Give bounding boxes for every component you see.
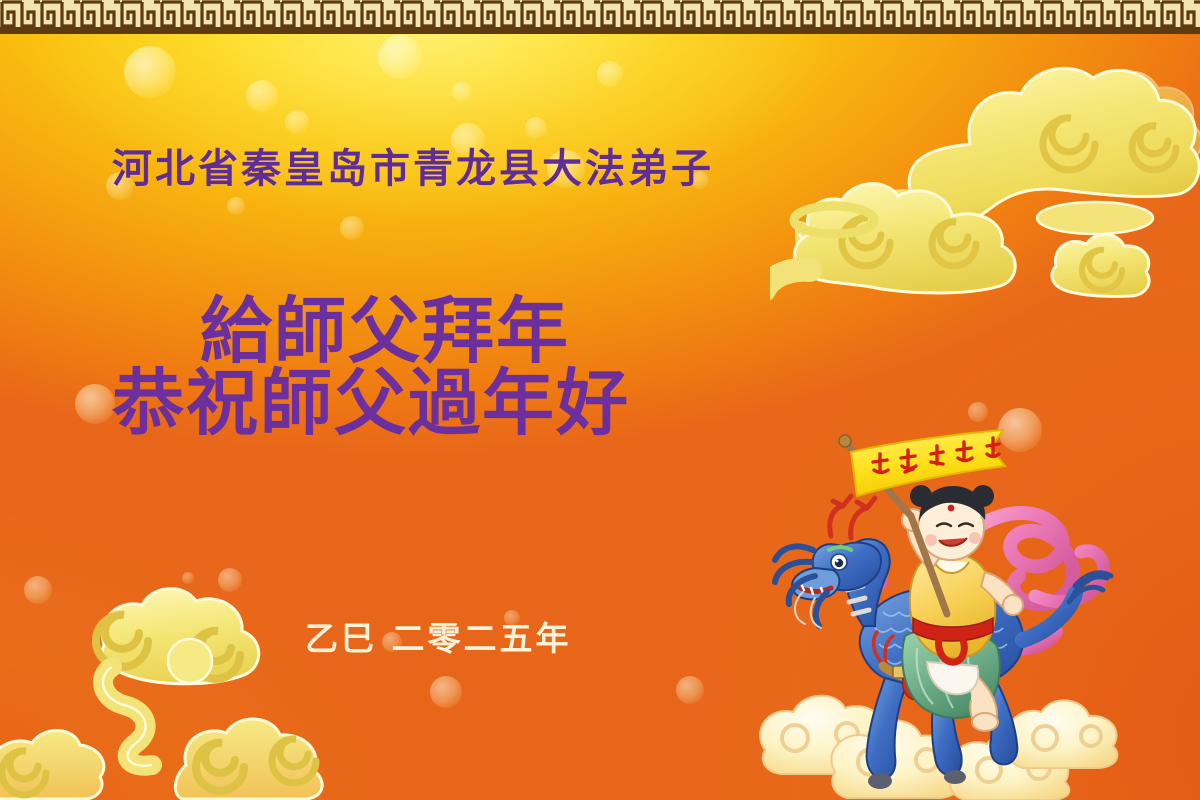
bokeh-circle bbox=[227, 197, 245, 215]
bokeh-circle bbox=[452, 82, 472, 102]
child-riding-dragon-illustration bbox=[735, 400, 1135, 800]
bokeh-circle bbox=[182, 572, 194, 584]
bokeh-circle bbox=[285, 110, 309, 134]
bokeh-circle bbox=[430, 676, 462, 708]
bokeh-circle bbox=[218, 568, 242, 592]
greeting-card: 河北省秦皇岛市青龙县大法弟子 給師父拜年 恭祝師父過年好 乙巳 二零二五年 bbox=[0, 0, 1200, 800]
bokeh-circle bbox=[124, 46, 176, 98]
greeting-line-2: 恭祝師父過年好 bbox=[112, 344, 630, 449]
bokeh-circle bbox=[676, 676, 704, 704]
bokeh-circle bbox=[24, 576, 52, 604]
meander-border-top bbox=[0, 0, 1200, 34]
meander-pattern-strip bbox=[0, 0, 1200, 30]
bokeh-circle bbox=[340, 216, 364, 240]
bokeh-circle bbox=[378, 35, 422, 79]
bokeh-circle bbox=[597, 61, 623, 87]
bokeh-circle bbox=[75, 384, 115, 424]
date-label: 乙巳 二零二五年 bbox=[305, 612, 572, 660]
page-title: 河北省秦皇岛市青龙县大法弟子 bbox=[112, 136, 714, 194]
bokeh-circle bbox=[246, 80, 278, 112]
